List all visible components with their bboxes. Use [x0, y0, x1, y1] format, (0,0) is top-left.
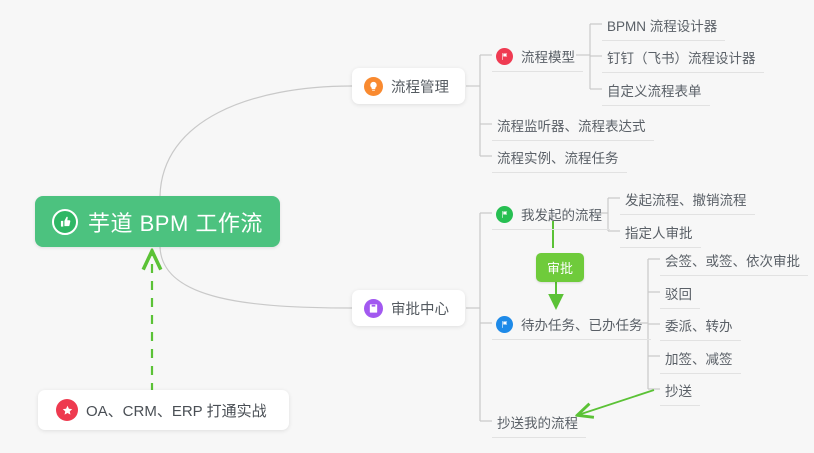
thumbs-up-icon	[52, 209, 78, 235]
branch-label-approval-center: 审批中心	[391, 298, 449, 319]
node-assignee-approval[interactable]: 指定人审批	[620, 219, 701, 248]
mindmap-canvas: 芋道 BPM 工作流 流程管理 审批中心 流程模型 流程监听器、流程表达式	[0, 0, 814, 453]
node-label-reject: 驳回	[665, 283, 692, 303]
node-label-my-initiated: 我发起的流程	[521, 204, 602, 224]
node-dingtalk-designer[interactable]: 钉钉（飞书）流程设计器	[602, 44, 764, 73]
node-label-add-remove-sign: 加签、减签	[665, 348, 733, 368]
flag-green-icon	[496, 206, 513, 223]
branch-node-process-management[interactable]: 流程管理	[352, 68, 465, 104]
node-process-listener[interactable]: 流程监听器、流程表达式	[492, 112, 654, 141]
node-cc-to-me[interactable]: 抄送我的流程	[492, 409, 586, 438]
node-label-custom-form: 自定义流程表单	[607, 80, 702, 100]
floating-node-integration[interactable]: OA、CRM、ERP 打通实战	[38, 390, 289, 430]
node-label-process-model: 流程模型	[521, 46, 575, 66]
annotation-arrow-cc-to-ccflow	[578, 390, 654, 415]
node-bpmn-designer[interactable]: BPMN 流程设计器	[602, 12, 725, 41]
node-label-cc: 抄送	[665, 380, 692, 400]
node-custom-form[interactable]: 自定义流程表单	[602, 77, 710, 106]
node-label-delegate-transfer: 委派、转办	[665, 315, 733, 335]
edge-root-to-process-management	[160, 86, 352, 196]
node-process-model[interactable]: 流程模型	[492, 43, 583, 72]
node-label-bpmn-designer: BPMN 流程设计器	[607, 15, 717, 35]
node-cc[interactable]: 抄送	[660, 377, 700, 406]
node-reject[interactable]: 驳回	[660, 280, 700, 309]
flag-red-icon	[496, 48, 513, 65]
node-my-initiated[interactable]: 我发起的流程	[492, 201, 610, 230]
root-label: 芋道 BPM 工作流	[88, 206, 263, 238]
branch-node-approval-center[interactable]: 审批中心	[352, 290, 465, 326]
edge-root-to-approval-center	[160, 247, 352, 308]
root-node[interactable]: 芋道 BPM 工作流	[35, 196, 280, 247]
node-label-multi-approval: 会签、或签、依次审批	[665, 250, 800, 270]
node-todo-done-tasks[interactable]: 待办任务、已办任务	[492, 311, 651, 340]
flag-blue-icon	[496, 316, 513, 333]
clipboard-icon	[364, 299, 383, 318]
node-label-process-listener: 流程监听器、流程表达式	[497, 115, 646, 135]
node-label-assignee-approval: 指定人审批	[625, 222, 693, 242]
annotation-box-approval: 审批	[536, 253, 584, 282]
floating-node-label-integration: OA、CRM、ERP 打通实战	[86, 400, 267, 421]
lightbulb-icon	[364, 77, 383, 96]
node-label-todo-done-tasks: 待办任务、已办任务	[521, 314, 643, 334]
annotation-label-approval: 审批	[547, 261, 573, 276]
node-label-start-cancel-flow: 发起流程、撤销流程	[625, 189, 747, 209]
branch-label-process-management: 流程管理	[391, 76, 449, 97]
node-process-instance[interactable]: 流程实例、流程任务	[492, 144, 627, 173]
node-label-process-instance: 流程实例、流程任务	[497, 147, 619, 167]
node-label-cc-to-me: 抄送我的流程	[497, 412, 578, 432]
node-delegate-transfer[interactable]: 委派、转办	[660, 312, 741, 341]
node-label-dingtalk-designer: 钉钉（飞书）流程设计器	[607, 47, 756, 67]
star-icon	[56, 399, 78, 421]
node-multi-approval[interactable]: 会签、或签、依次审批	[660, 247, 808, 276]
node-add-remove-sign[interactable]: 加签、减签	[660, 345, 741, 374]
node-start-cancel-flow[interactable]: 发起流程、撤销流程	[620, 186, 755, 215]
